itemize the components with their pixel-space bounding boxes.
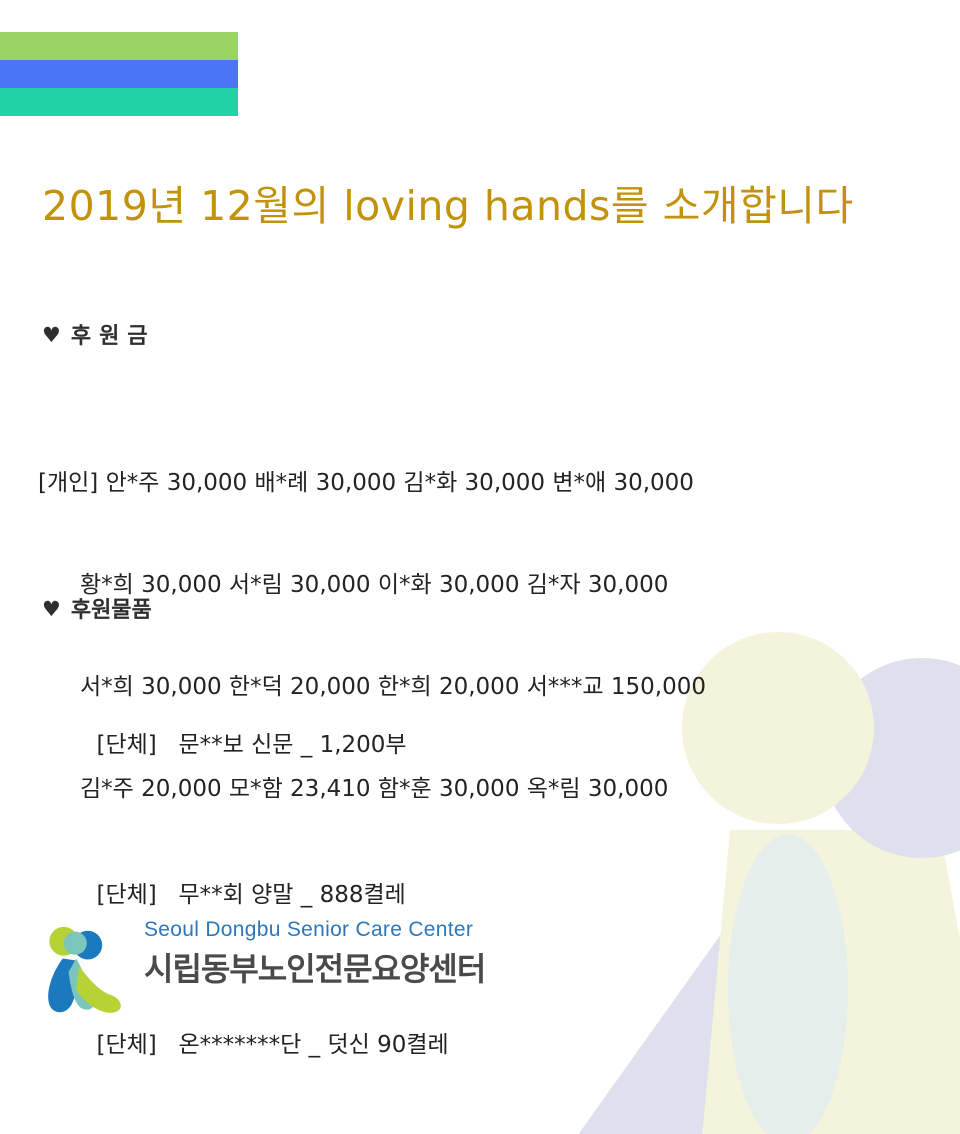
poster-page: 2019년 12월의 loving hands를 소개합니다 ♥후원금 [개인]…	[0, 0, 960, 1134]
list-item: [단체]문**보 신문 _ 1,200부	[38, 700, 513, 790]
section-heading-goods: ♥후원물품	[42, 592, 152, 624]
top-bar-teal	[0, 88, 238, 116]
logo-korean-name: 시립동부노인전문요양센터	[144, 944, 485, 990]
logo-mark-icon	[34, 924, 130, 1020]
goods-description: 문**보 신문 _ 1,200부	[179, 732, 407, 758]
logo-text: Seoul Dongbu Senior Care Center 시립동부노인전문…	[144, 918, 485, 990]
goods-tag: [단체]	[97, 730, 179, 760]
heart-icon: ♥	[42, 597, 61, 621]
donation-line: [개인] 안*주 30,000 배*례 30,000 김*화 30,000 변*…	[38, 466, 706, 500]
section-heading-donation-label: 후원금	[71, 324, 156, 349]
page-title: 2019년 12월의 loving hands를 소개합니다	[42, 172, 854, 232]
goods-description: 온*******단 _ 덧신 90켤레	[179, 1032, 449, 1058]
goods-tag: [단체]	[97, 1030, 179, 1060]
logo-english-name: Seoul Dongbu Senior Care Center	[144, 918, 485, 942]
goods-tag: [단체]	[97, 880, 179, 910]
background-circle-lavender	[822, 658, 960, 858]
top-bar-green	[0, 32, 238, 60]
top-color-bars	[0, 32, 238, 116]
goods-description: 무**회 양말 _ 888켤레	[179, 882, 406, 908]
background-circle-yellow	[682, 632, 874, 824]
goods-list: [단체]문**보 신문 _ 1,200부 [단체]무**회 양말 _ 888켤레…	[38, 640, 513, 1134]
section-heading-goods-label: 후원물품	[71, 598, 152, 623]
organization-logo: Seoul Dongbu Senior Care Center 시립동부노인전문…	[34, 918, 494, 1023]
background-wedge-yellow	[700, 830, 960, 1134]
background-ellipse-teal	[728, 834, 848, 1134]
section-heading-donation: ♥후원금	[42, 318, 156, 350]
background-wedge-lavender	[560, 830, 960, 1134]
top-bar-blue	[0, 60, 238, 88]
heart-icon: ♥	[42, 323, 61, 347]
